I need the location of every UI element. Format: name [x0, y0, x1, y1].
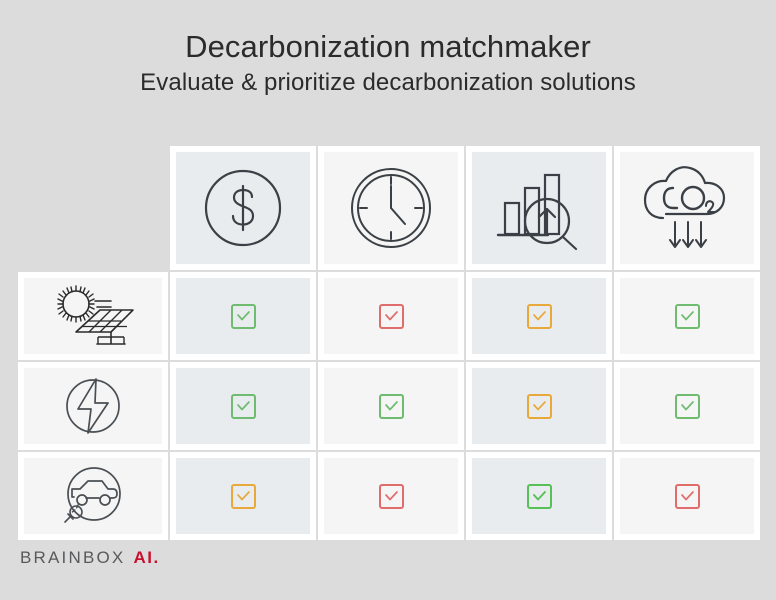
status-check-green — [675, 394, 700, 419]
lightning-bolt-circle-icon — [61, 374, 125, 438]
column-header-performance[interactable] — [466, 146, 612, 270]
status-check-amber — [527, 304, 552, 329]
matrix-corner-cell — [18, 146, 168, 270]
status-check-green — [231, 394, 256, 419]
co2-cloud-down-arrows-icon — [637, 162, 737, 254]
status-check-red — [379, 484, 404, 509]
page-subtitle: Evaluate & prioritize decarbonization so… — [0, 68, 776, 98]
poster-root: Decarbonization matchmaker Evaluate & pr… — [0, 0, 776, 600]
decarbonization-matrix — [18, 146, 758, 540]
logo-accent-text: AI — [133, 548, 153, 568]
status-check-red — [675, 484, 700, 509]
matrix-cell-electrification-emissions[interactable] — [614, 362, 760, 450]
matrix-cell-electrification-time[interactable] — [318, 362, 464, 450]
matrix-cell-solar-time[interactable] — [318, 272, 464, 360]
matrix-cell-electrification-cost[interactable] — [170, 362, 316, 450]
solar-panel-sun-icon — [45, 284, 141, 348]
status-check-red — [379, 304, 404, 329]
column-header-time[interactable] — [318, 146, 464, 270]
status-check-amber — [231, 484, 256, 509]
status-check-amber — [527, 394, 552, 419]
logo-primary-text: BRAINBOX — [20, 548, 125, 568]
bar-chart-magnifier-icon — [492, 163, 586, 253]
column-header-emissions[interactable] — [614, 146, 760, 270]
header-block: Decarbonization matchmaker Evaluate & pr… — [0, 28, 776, 98]
page-title: Decarbonization matchmaker — [0, 28, 776, 66]
matrix-cell-electrification-performance[interactable] — [466, 362, 612, 450]
clock-icon — [347, 164, 435, 252]
row-header-solar[interactable] — [18, 272, 168, 360]
matrix-cell-solar-cost[interactable] — [170, 272, 316, 360]
dollar-coin-icon — [200, 165, 286, 251]
matrix-cell-ev-emissions[interactable] — [614, 452, 760, 540]
status-check-green — [379, 394, 404, 419]
status-check-green — [675, 304, 700, 329]
matrix-cell-ev-cost[interactable] — [170, 452, 316, 540]
electric-vehicle-circle-icon — [58, 463, 128, 529]
matrix-cell-solar-performance[interactable] — [466, 272, 612, 360]
status-check-green — [231, 304, 256, 329]
column-header-cost[interactable] — [170, 146, 316, 270]
brainbox-ai-logo: BRAINBOX AI . — [20, 548, 160, 568]
status-check-green — [527, 484, 552, 509]
row-header-ev[interactable] — [18, 452, 168, 540]
matrix-cell-solar-emissions[interactable] — [614, 272, 760, 360]
matrix-cell-ev-time[interactable] — [318, 452, 464, 540]
logo-accent-dot: . — [153, 548, 160, 568]
matrix-cell-ev-performance[interactable] — [466, 452, 612, 540]
row-header-electrification[interactable] — [18, 362, 168, 450]
